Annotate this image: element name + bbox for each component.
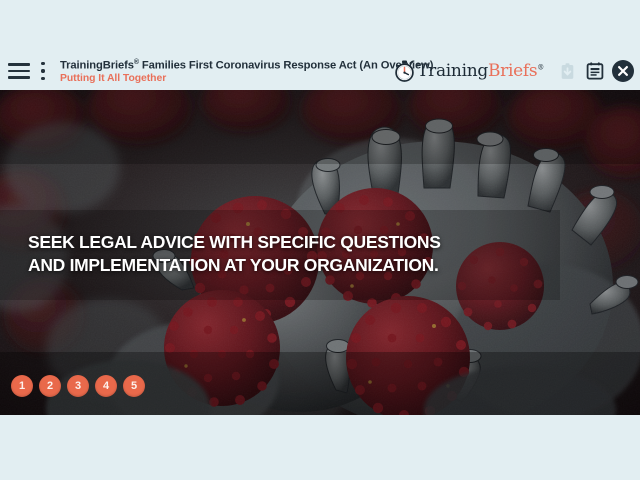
page-footer-area: [0, 415, 640, 480]
hamburger-line: [8, 70, 30, 73]
brand-word-briefs: Briefs: [488, 61, 537, 81]
hamburger-line: [8, 63, 30, 66]
player-header: TrainingBriefs® Families First Coronavir…: [0, 52, 640, 90]
kebab-menu-icon[interactable]: [36, 62, 50, 80]
kebab-dot: [41, 77, 44, 80]
slide-stage: SEEK LEGAL ADVICE WITH SPECIFIC QUESTION…: [0, 90, 640, 415]
notes-icon: [585, 61, 605, 81]
course-subtitle: Putting It All Together: [60, 73, 394, 84]
course-title: TrainingBriefs® Families First Coronavir…: [60, 59, 394, 72]
download-icon: [558, 62, 577, 81]
pagination-item[interactable]: 4: [95, 375, 117, 397]
course-title-rest: Families First Coronavirus Response Act …: [139, 60, 433, 72]
kebab-dot: [41, 62, 44, 65]
pagination-item[interactable]: 1: [11, 375, 33, 397]
slide-pagination: 1 2 3 4 5: [11, 375, 145, 397]
brand-word-training: Training: [417, 61, 488, 81]
kebab-dot: [41, 69, 44, 72]
course-player: TrainingBriefs® Families First Coronavir…: [0, 0, 640, 480]
pagination-item[interactable]: 3: [67, 375, 89, 397]
stopwatch-icon: [394, 60, 415, 82]
pagination-item[interactable]: 5: [123, 375, 145, 397]
hamburger-menu-icon[interactable]: [8, 63, 30, 79]
close-button[interactable]: [610, 58, 636, 84]
course-title-brand: TrainingBriefs: [60, 60, 134, 72]
coronavirus-micrograph-image: [0, 90, 640, 415]
brand-wordmark: TrainingBriefs®: [417, 63, 544, 80]
download-button[interactable]: [554, 58, 580, 84]
notes-button[interactable]: [582, 58, 608, 84]
course-title-block: TrainingBriefs® Families First Coronavir…: [60, 58, 394, 84]
brand-registered-mark-icon: ®: [537, 63, 544, 71]
trainingbriefs-logo[interactable]: TrainingBriefs®: [394, 60, 544, 82]
close-circle-icon: [611, 59, 635, 83]
pagination-item[interactable]: 2: [39, 375, 61, 397]
hamburger-line: [8, 76, 30, 79]
